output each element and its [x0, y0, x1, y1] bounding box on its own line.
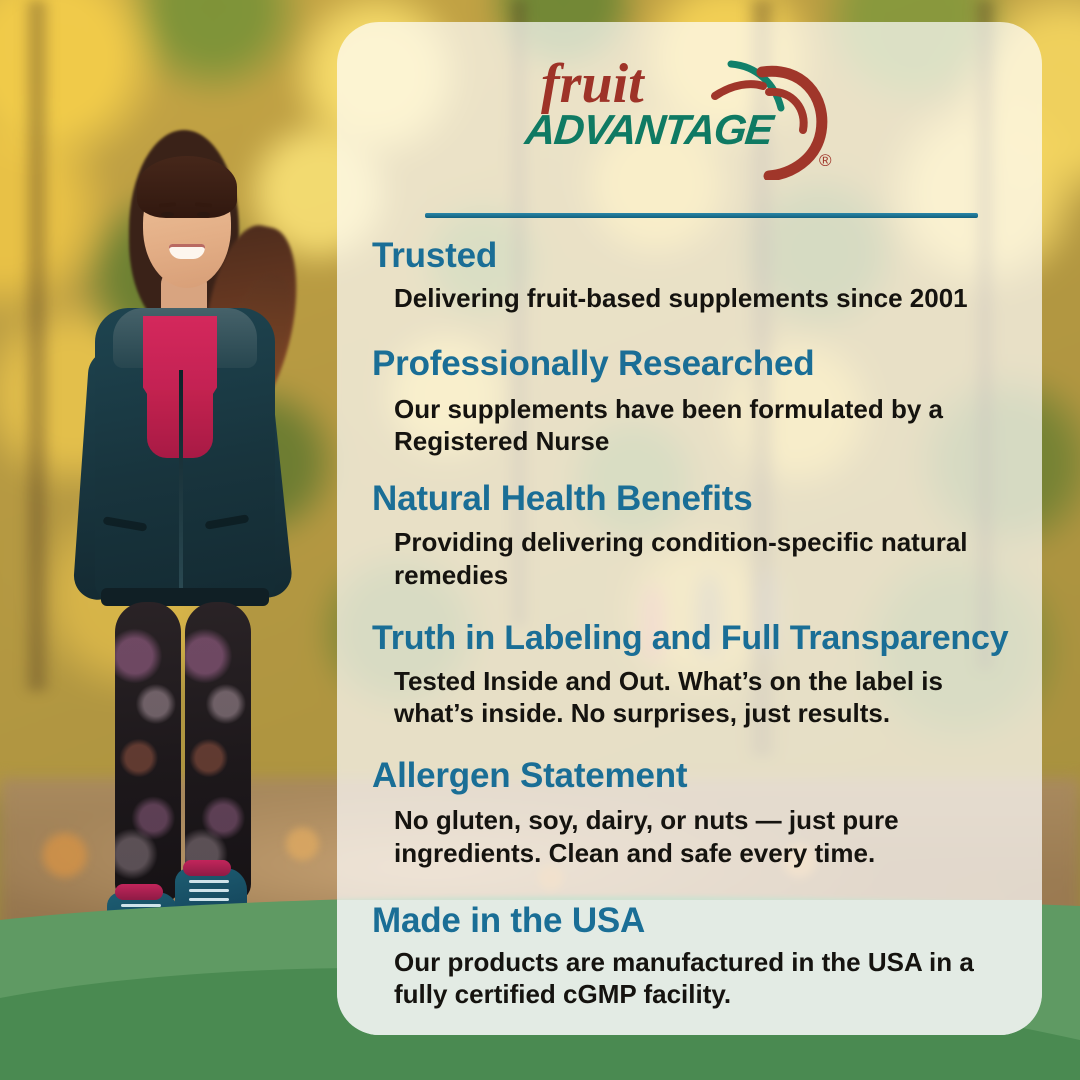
benefits-list: Trusted Delivering fruit-based supplemen… [337, 236, 1042, 1011]
woman-hiker-photo-subject [55, 120, 305, 920]
benefit-item-trusted: Trusted Delivering fruit-based supplemen… [337, 236, 1042, 314]
benefit-item-natural-health-benefits: Natural Health Benefits Providing delive… [337, 479, 1042, 591]
benefit-heading: Truth in Labeling and Full Transparency [372, 619, 1020, 657]
tree-trunk [22, 0, 52, 691]
header-divider [425, 213, 978, 218]
info-card: fruit ADVANTAGE ® Trusted Delivering fru… [337, 22, 1042, 1035]
eye [197, 212, 210, 217]
benefit-heading: Natural Health Benefits [372, 479, 1020, 518]
logo-registered-mark: ® [819, 151, 832, 170]
shoe-laces [189, 880, 229, 883]
benefit-item-allergen-statement: Allergen Statement No gluten, soy, dairy… [337, 756, 1042, 869]
eye [161, 212, 174, 217]
benefit-heading: Allergen Statement [372, 756, 1020, 795]
benefit-item-professionally-researched: Professionally Researched Our supplement… [337, 344, 1042, 457]
benefit-body: Delivering fruit-based supplements since… [394, 282, 1020, 314]
jacket-zipper [179, 370, 183, 598]
legging-left [115, 602, 181, 902]
logo-brush-dash-icon [715, 84, 763, 96]
benefit-body: Our supplements have been formulated by … [394, 393, 1020, 457]
benefit-body: No gluten, soy, dairy, or nuts — just pu… [394, 804, 1020, 868]
benefit-heading: Professionally Researched [372, 344, 1020, 383]
shoe-collar [183, 860, 231, 876]
benefit-heading: Made in the USA [372, 901, 1020, 940]
benefit-body: Tested Inside and Out. What’s on the lab… [394, 665, 1020, 729]
hair-top [137, 156, 237, 218]
smiling-mouth [169, 244, 205, 259]
benefit-item-made-in-the-usa: Made in the USA Our products are manufac… [337, 901, 1042, 1011]
benefit-body: Providing delivering condition-specific … [394, 526, 1020, 590]
benefit-item-truth-in-labeling: Truth in Labeling and Full Transparency … [337, 619, 1042, 730]
benefit-heading: Trusted [372, 236, 1020, 275]
fruit-advantage-logo[interactable]: fruit ADVANTAGE ® [519, 40, 859, 180]
legging-right [185, 602, 251, 902]
benefit-body: Our products are manufactured in the USA… [394, 946, 1020, 1010]
infographic-canvas: fruit ADVANTAGE ® Trusted Delivering fru… [0, 0, 1080, 1080]
logo-wordmark: ADVANTAGE [522, 106, 778, 153]
